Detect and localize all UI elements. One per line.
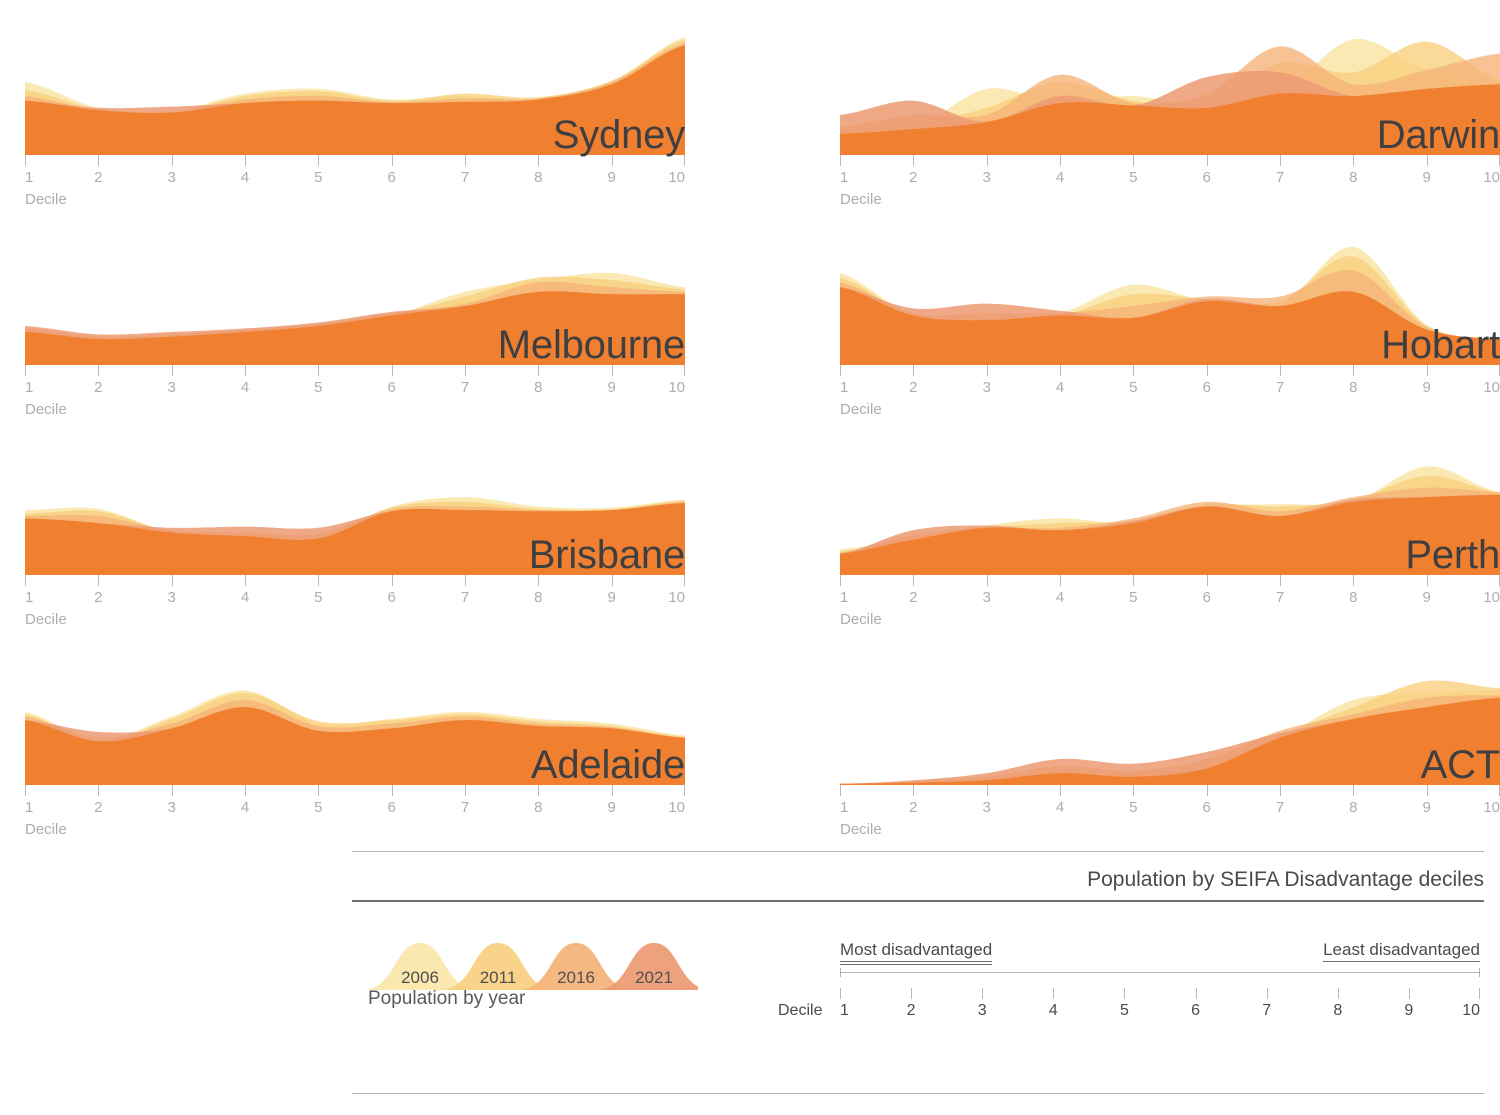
axis-tick (318, 365, 319, 376)
axis-tick (1060, 785, 1061, 796)
x-axis: 12345678910Decile (840, 785, 1500, 845)
axis-tick (1427, 785, 1428, 796)
density-plot: Perth (840, 445, 1500, 575)
panel-act: ACT12345678910Decile (840, 655, 1500, 855)
axis-title: Decile (25, 821, 67, 838)
axis-tick-label: 7 (461, 799, 469, 816)
axis-tick-label: 4 (241, 799, 249, 816)
x-axis: 12345678910Decile (840, 155, 1500, 215)
scale-tick (1267, 988, 1268, 999)
axis-tick-label: 6 (387, 379, 395, 396)
axis-tick (245, 785, 246, 796)
axis-tick-label: 8 (1349, 379, 1357, 396)
axis-tick (1353, 785, 1354, 796)
axis-tick-label: 5 (1129, 799, 1137, 816)
axis-tick-label: 9 (607, 799, 615, 816)
axis-title: Decile (25, 191, 67, 208)
axis-tick (98, 155, 99, 166)
axis-tick (538, 365, 539, 376)
area-base-overlap (25, 503, 685, 575)
axis-tick-label: 3 (982, 379, 990, 396)
axis-tick-label: 7 (461, 589, 469, 606)
axis-tick-label: 5 (314, 589, 322, 606)
axis-tick-label: 10 (1483, 799, 1500, 816)
panel-sydney: Sydney12345678910Decile (25, 25, 685, 225)
axis-tick-label: 1 (25, 169, 33, 186)
axis-tick-label: 4 (1056, 169, 1064, 186)
axis-tick-label: 10 (1483, 589, 1500, 606)
axis-tick (98, 575, 99, 586)
axis-tick (1353, 365, 1354, 376)
axis-tick (465, 785, 466, 796)
axis-tick (392, 785, 393, 796)
axis-tick (1353, 575, 1354, 586)
scale-tick (1338, 988, 1339, 999)
axis-tick (1207, 365, 1208, 376)
axis-tick (840, 785, 841, 796)
axis-tick (98, 785, 99, 796)
legend-year-2006: 2006 (401, 968, 439, 988)
axis-tick-label: 3 (167, 379, 175, 396)
axis-title: Decile (25, 611, 67, 628)
axis-tick (1207, 155, 1208, 166)
axis-tick (612, 575, 613, 586)
x-axis: 12345678910Decile (840, 365, 1500, 425)
axis-tick-label: 10 (1483, 169, 1500, 186)
scale-tick (911, 988, 912, 999)
axis-tick (1280, 575, 1281, 586)
year-legend: 2006201120162021 (368, 935, 698, 990)
axis-tick (1133, 575, 1134, 586)
axis-tick-label: 2 (909, 379, 917, 396)
axis-tick (1207, 785, 1208, 796)
axis-tick-label: 3 (982, 799, 990, 816)
axis-tick (1280, 785, 1281, 796)
axis-tick-label: 6 (387, 169, 395, 186)
axis-tick-label: 7 (1276, 799, 1284, 816)
legend-year-2016: 2016 (557, 968, 595, 988)
axis-tick (538, 155, 539, 166)
axis-tick (538, 785, 539, 796)
axis-tick (245, 155, 246, 166)
axis-tick-label: 6 (1202, 589, 1210, 606)
axis-tick-label: 3 (167, 169, 175, 186)
x-axis: 12345678910Decile (25, 785, 685, 845)
scale-tick (1124, 988, 1125, 999)
scale-tick (1479, 988, 1480, 999)
axis-tick-label: 9 (607, 169, 615, 186)
density-plot: Darwin (840, 25, 1500, 155)
axis-tick-label: 2 (94, 379, 102, 396)
axis-tick-label: 10 (668, 379, 685, 396)
scale-tick-label: 8 (1333, 1002, 1342, 1020)
axis-tick-label: 7 (1276, 169, 1284, 186)
scale-tick (1053, 988, 1054, 999)
legend-year-2011: 2011 (480, 968, 517, 988)
axis-tick-label: 1 (25, 379, 33, 396)
panel-darwin: Darwin12345678910Decile (840, 25, 1500, 225)
axis-tick-label: 6 (387, 589, 395, 606)
axis-tick-label: 1 (840, 799, 848, 816)
density-plot: ACT (840, 655, 1500, 785)
axis-tick-label: 5 (1129, 379, 1137, 396)
axis-title: Decile (840, 821, 882, 838)
panel-brisbane: Brisbane12345678910Decile (25, 445, 685, 645)
axis-tick-label: 3 (982, 589, 990, 606)
axis-tick (25, 155, 26, 166)
axis-tick (172, 575, 173, 586)
axis-tick (913, 155, 914, 166)
axis-tick-label: 4 (241, 589, 249, 606)
scale-tick (840, 988, 841, 999)
axis-tick (913, 785, 914, 796)
axis-tick-label: 7 (1276, 379, 1284, 396)
scale-bar (840, 972, 1480, 973)
axis-tick (1060, 155, 1061, 166)
axis-tick (1060, 365, 1061, 376)
scale-tick-label: 7 (1262, 1002, 1271, 1020)
axis-tick-label: 10 (1483, 379, 1500, 396)
axis-tick (465, 575, 466, 586)
axis-tick-label: 1 (840, 379, 848, 396)
axis-tick-label: 1 (840, 589, 848, 606)
axis-tick (684, 365, 685, 376)
scale-tick-label: 6 (1191, 1002, 1200, 1020)
area-base-overlap (840, 495, 1500, 575)
axis-tick-label: 8 (534, 169, 542, 186)
axis-tick-label: 5 (314, 799, 322, 816)
axis-tick-label: 2 (909, 169, 917, 186)
axis-tick (1427, 575, 1428, 586)
axis-tick (1280, 365, 1281, 376)
axis-tick (987, 785, 988, 796)
axis-tick-label: 1 (25, 589, 33, 606)
axis-title: Decile (840, 191, 882, 208)
axis-tick-label: 2 (909, 589, 917, 606)
axis-title: Decile (840, 611, 882, 628)
axis-tick-label: 7 (461, 379, 469, 396)
axis-title: Decile (25, 401, 67, 418)
axis-tick (1133, 785, 1134, 796)
axis-tick (612, 155, 613, 166)
axis-tick (1280, 155, 1281, 166)
axis-tick-label: 7 (1276, 589, 1284, 606)
axis-tick (1133, 365, 1134, 376)
axis-tick (684, 575, 685, 586)
axis-tick-label: 8 (1349, 169, 1357, 186)
axis-tick-label: 4 (241, 379, 249, 396)
axis-tick (318, 785, 319, 796)
axis-tick (538, 575, 539, 586)
axis-tick-label: 5 (1129, 589, 1137, 606)
area-base-overlap (25, 291, 685, 365)
axis-tick (318, 155, 319, 166)
axis-tick-label: 8 (534, 799, 542, 816)
axis-tick-label: 2 (94, 589, 102, 606)
axis-tick (245, 575, 246, 586)
title-rule-top (352, 851, 1484, 852)
page-title: Population by SEIFA Disadvantage deciles (1087, 868, 1484, 892)
axis-tick (684, 785, 685, 796)
axis-tick (392, 575, 393, 586)
axis-tick-label: 4 (1056, 379, 1064, 396)
axis-tick (1353, 155, 1354, 166)
axis-tick (913, 365, 914, 376)
scale-tick-label: 5 (1120, 1002, 1129, 1020)
panel-melbourne: Melbourne12345678910Decile (25, 235, 685, 435)
axis-tick (465, 365, 466, 376)
axis-tick (465, 155, 466, 166)
scale-tick-label: 3 (978, 1002, 987, 1020)
axis-tick (392, 155, 393, 166)
title-rule-bottom (352, 900, 1484, 902)
axis-tick-label: 8 (1349, 589, 1357, 606)
axis-tick-label: 4 (1056, 589, 1064, 606)
axis-tick (98, 365, 99, 376)
legend-year-2021: 2021 (635, 968, 673, 988)
axis-tick-label: 2 (909, 799, 917, 816)
most-disadvantaged-label: Most disadvantaged (840, 940, 992, 962)
axis-tick-label: 3 (167, 589, 175, 606)
footer-rule (352, 1093, 1484, 1094)
axis-tick-label: 9 (1422, 589, 1430, 606)
axis-tick (987, 155, 988, 166)
panel-perth: Perth12345678910Decile (840, 445, 1500, 645)
axis-tick (612, 365, 613, 376)
axis-tick (172, 365, 173, 376)
axis-tick (25, 575, 26, 586)
density-plot: Sydney (25, 25, 685, 155)
scale-tick-label: 2 (907, 1002, 916, 1020)
panel-grid: Sydney12345678910DecileMelbourne12345678… (0, 0, 1500, 830)
decile-scale-legend: Most disadvantaged Least disadvantaged D… (840, 940, 1480, 1050)
axis-tick (987, 575, 988, 586)
axis-tick-label: 10 (668, 799, 685, 816)
axis-tick-label: 10 (668, 169, 685, 186)
x-axis: 12345678910Decile (25, 575, 685, 635)
axis-tick (25, 365, 26, 376)
axis-tick (25, 785, 26, 796)
axis-tick (913, 575, 914, 586)
axis-tick-label: 1 (840, 169, 848, 186)
axis-tick-label: 9 (1422, 379, 1430, 396)
axis-tick (840, 575, 841, 586)
axis-tick-label: 9 (607, 589, 615, 606)
scale-tick-label: 4 (1049, 1002, 1058, 1020)
axis-tick-label: 7 (461, 169, 469, 186)
axis-tick (684, 155, 685, 166)
area-base-overlap (25, 707, 685, 785)
least-disadvantaged-label: Least disadvantaged (1323, 940, 1480, 962)
axis-tick-label: 2 (94, 799, 102, 816)
axis-tick-label: 10 (668, 589, 685, 606)
scale-decile-label: Decile (778, 1002, 822, 1020)
axis-tick-label: 9 (607, 379, 615, 396)
axis-tick-label: 4 (241, 169, 249, 186)
axis-tick (1427, 365, 1428, 376)
axis-tick (840, 365, 841, 376)
axis-tick-label: 1 (25, 799, 33, 816)
axis-tick (1427, 155, 1428, 166)
axis-tick-label: 3 (167, 799, 175, 816)
axis-tick (987, 365, 988, 376)
x-axis: 12345678910Decile (840, 575, 1500, 635)
axis-tick (172, 155, 173, 166)
panel-adelaide: Adelaide12345678910Decile (25, 655, 685, 855)
density-plot: Hobart (840, 235, 1500, 365)
axis-tick-label: 4 (1056, 799, 1064, 816)
axis-tick-label: 6 (387, 799, 395, 816)
axis-tick-label: 5 (1129, 169, 1137, 186)
axis-tick (318, 575, 319, 586)
axis-tick-label: 8 (534, 379, 542, 396)
axis-tick (1207, 575, 1208, 586)
axis-tick-label: 6 (1202, 799, 1210, 816)
axis-tick-label: 5 (314, 379, 322, 396)
year-legend-caption: Population by year (368, 988, 525, 1010)
axis-tick-label: 9 (1422, 799, 1430, 816)
axis-title: Decile (840, 401, 882, 418)
scale-tick (1196, 988, 1197, 999)
axis-tick (840, 155, 841, 166)
axis-tick (172, 785, 173, 796)
axis-tick-label: 8 (1349, 799, 1357, 816)
scale-tick (982, 988, 983, 999)
axis-tick (1060, 575, 1061, 586)
density-plot: Melbourne (25, 235, 685, 365)
axis-tick-label: 2 (94, 169, 102, 186)
axis-tick (612, 785, 613, 796)
axis-tick-label: 6 (1202, 379, 1210, 396)
axis-tick-label: 5 (314, 169, 322, 186)
x-axis: 12345678910Decile (25, 365, 685, 425)
x-axis: 12345678910Decile (25, 155, 685, 215)
axis-tick-label: 8 (534, 589, 542, 606)
scale-tick-label: 10 (1462, 1002, 1480, 1020)
density-plot: Adelaide (25, 655, 685, 785)
density-plot: Brisbane (25, 445, 685, 575)
axis-tick-label: 6 (1202, 169, 1210, 186)
axis-tick-label: 9 (1422, 169, 1430, 186)
axis-tick (1133, 155, 1134, 166)
axis-tick-label: 3 (982, 169, 990, 186)
axis-tick (392, 365, 393, 376)
scale-tick-label: 1 (840, 1002, 849, 1020)
scale-tick-label: 9 (1404, 1002, 1413, 1020)
panel-hobart: Hobart12345678910Decile (840, 235, 1500, 435)
scale-tick (1409, 988, 1410, 999)
axis-tick (245, 365, 246, 376)
